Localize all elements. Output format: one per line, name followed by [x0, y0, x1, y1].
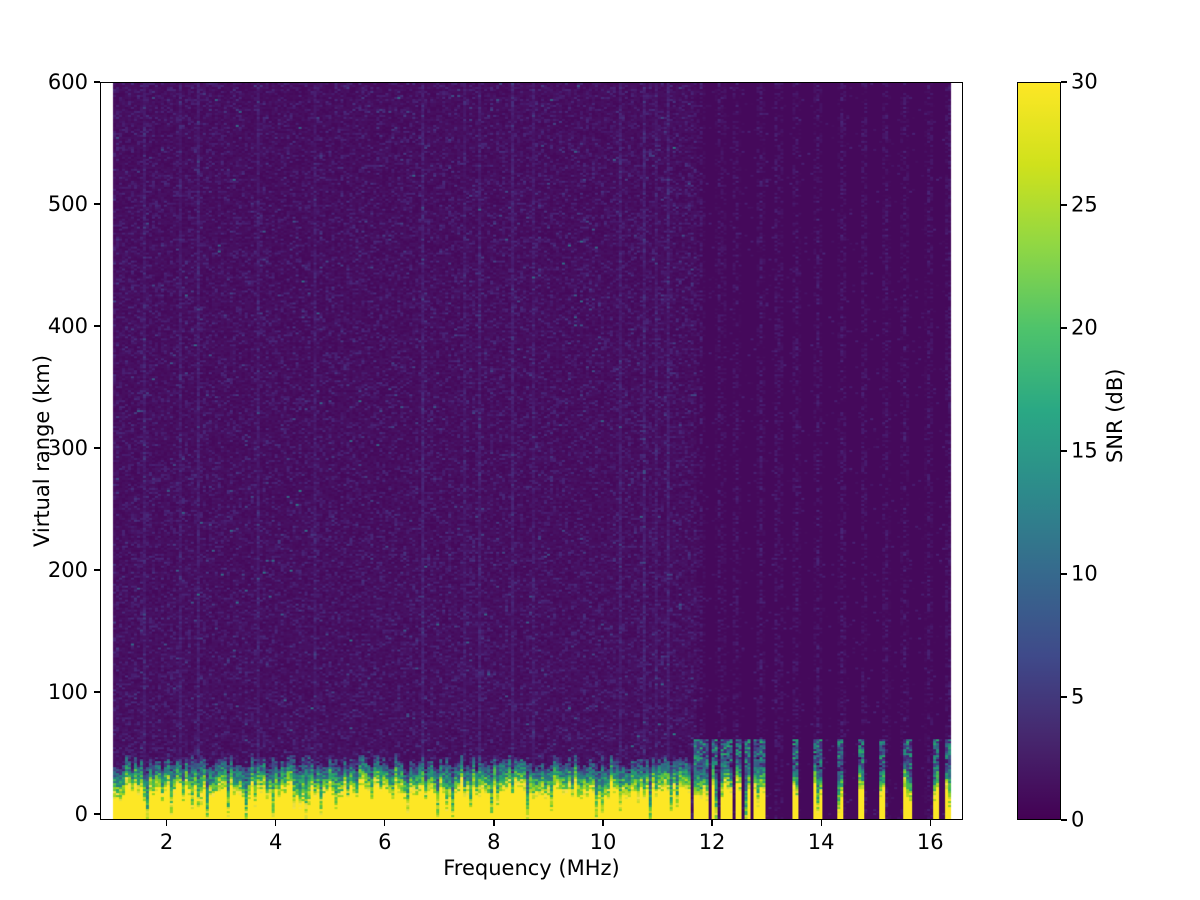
- x-tick-label: 8: [487, 830, 500, 854]
- x-tick-label: 4: [269, 830, 282, 854]
- colorbar-tick-mark: [1061, 696, 1067, 697]
- x-tick-label: 10: [590, 830, 617, 854]
- y-tick-mark: [94, 203, 100, 204]
- y-tick-label: 400: [48, 316, 88, 337]
- y-tick-label: 100: [48, 682, 88, 703]
- x-tick-label: 12: [699, 830, 726, 854]
- x-tick-mark: [711, 820, 712, 826]
- x-tick-mark: [166, 820, 167, 826]
- x-tick-label: 6: [378, 830, 391, 854]
- x-tick-mark: [602, 820, 603, 826]
- ionogram-heatmap: [101, 83, 962, 819]
- colorbar-tick-label: 30: [1071, 72, 1098, 93]
- colorbar-tick-label: 20: [1071, 318, 1098, 339]
- y-tick-label: 600: [48, 72, 88, 93]
- y-axis-label: Virtual range (km): [30, 355, 54, 547]
- colorbar-label: SNR (dB): [1103, 369, 1127, 463]
- x-tick-mark: [384, 820, 385, 826]
- colorbar-tick-label: 5: [1071, 687, 1084, 708]
- colorbar-tick-mark: [1061, 450, 1067, 451]
- colorbar-tick-label: 0: [1071, 810, 1084, 831]
- x-tick-mark: [930, 820, 931, 826]
- y-tick-mark: [94, 447, 100, 448]
- colorbar-gradient: [1017, 82, 1061, 820]
- x-tick-label: 14: [808, 830, 835, 854]
- x-tick-mark: [275, 820, 276, 826]
- x-tick-mark: [493, 820, 494, 826]
- colorbar-tick-mark: [1061, 204, 1067, 205]
- x-tick-label: 2: [160, 830, 173, 854]
- y-tick-mark: [94, 569, 100, 570]
- y-tick-mark: [94, 81, 100, 82]
- colorbar: 051015202530: [1017, 82, 1061, 820]
- colorbar-tick-mark: [1061, 327, 1067, 328]
- colorbar-tick-label: 15: [1071, 441, 1098, 462]
- y-tick-label: 200: [48, 560, 88, 581]
- ionogram-figure: IRF Kiruna Ionosonde KI167 2025-09-27 19…: [0, 0, 1200, 900]
- colorbar-tick-mark: [1061, 573, 1067, 574]
- colorbar-tick-mark: [1061, 81, 1067, 82]
- colorbar-tick-label: 25: [1071, 195, 1098, 216]
- y-tick-label: 0: [75, 804, 88, 825]
- x-tick-label: 16: [917, 830, 944, 854]
- colorbar-tick-mark: [1061, 819, 1067, 820]
- colorbar-tick-label: 10: [1071, 564, 1098, 585]
- x-tick-mark: [821, 820, 822, 826]
- x-axis-label: Frequency (MHz): [100, 856, 963, 880]
- y-tick-mark: [94, 325, 100, 326]
- plot-area: [100, 82, 963, 820]
- y-tick-mark: [94, 691, 100, 692]
- y-tick-mark: [94, 813, 100, 814]
- y-tick-label: 500: [48, 194, 88, 215]
